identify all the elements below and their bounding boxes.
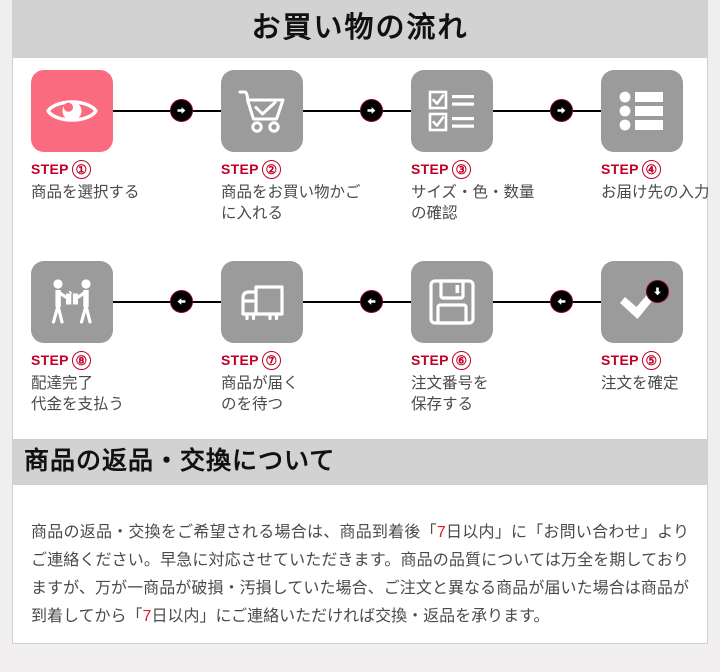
arrow-left-badge-1 bbox=[170, 290, 193, 313]
step-label-line-3: STEP③ bbox=[411, 158, 573, 180]
step-label-line-1: STEP① bbox=[31, 158, 193, 180]
step-item-3[interactable]: STEP③ サイズ・色・数量 の確認 bbox=[403, 58, 573, 249]
step-word-6: STEP bbox=[411, 352, 449, 368]
step-tile-1 bbox=[31, 70, 113, 152]
step-tile-4 bbox=[601, 70, 683, 152]
step-number-6: ⑥ bbox=[452, 351, 471, 370]
step-tile-7 bbox=[221, 261, 303, 343]
step-word-3: STEP bbox=[411, 161, 449, 177]
shopping-flow-page: お買い物の流れ bbox=[0, 0, 720, 672]
step-tile-6 bbox=[411, 261, 493, 343]
step-word-2: STEP bbox=[221, 161, 259, 177]
step-desc-4: お届け先の入力 bbox=[601, 182, 720, 203]
arrow-down-badge bbox=[646, 280, 669, 303]
step-tile-3 bbox=[411, 70, 493, 152]
step-desc-6: 注文番号を 保存する bbox=[411, 373, 573, 415]
step-number-2: ② bbox=[262, 160, 281, 179]
floppy-save-icon bbox=[426, 276, 478, 328]
step-caption-3: STEP③ サイズ・色・数量 の確認 bbox=[411, 158, 573, 224]
step-desc-1: 商品を選択する bbox=[31, 182, 193, 203]
flow-section-title: お買い物の流れ bbox=[12, 0, 708, 57]
delivery-truck-icon bbox=[234, 274, 290, 330]
arrow-left-icon bbox=[365, 295, 378, 308]
step-caption-2: STEP② 商品をお買い物かご に入れる bbox=[221, 158, 383, 224]
returns-section-title: 商品の返品・交換について bbox=[12, 440, 708, 484]
step-label-line-6: STEP⑥ bbox=[411, 349, 573, 371]
step-caption-8: STEP⑧ 配達完了 代金を支払う bbox=[31, 349, 193, 415]
step-label-line-7: STEP⑦ bbox=[221, 349, 383, 371]
step-item-4[interactable]: STEP④ お届け先の入力 bbox=[593, 58, 720, 249]
step-number-1: ① bbox=[72, 160, 91, 179]
step-desc-8: 配達完了 代金を支払う bbox=[31, 373, 193, 415]
eye-icon bbox=[44, 83, 100, 139]
checklist-icon bbox=[426, 85, 478, 137]
step-number-7: ⑦ bbox=[262, 351, 281, 370]
step-number-8: ⑧ bbox=[72, 351, 91, 370]
step-label-line-2: STEP② bbox=[221, 158, 383, 180]
flow-row-bottom: STEP⑧ 配達完了 代金を支払う bbox=[13, 249, 707, 440]
step-number-5: ⑤ bbox=[642, 351, 661, 370]
arrow-right-icon bbox=[175, 104, 188, 117]
step-caption-4: STEP④ お届け先の入力 bbox=[601, 158, 720, 203]
returns-days-highlight-1: 7 bbox=[437, 524, 446, 541]
step-number-4: ④ bbox=[642, 160, 661, 179]
step-tile-8 bbox=[31, 261, 113, 343]
step-caption-1: STEP① 商品を選択する bbox=[31, 158, 193, 203]
arrow-left-badge-3 bbox=[550, 290, 573, 313]
step-item-6[interactable]: STEP⑥ 注文番号を 保存する bbox=[403, 249, 573, 440]
arrow-right-badge-2 bbox=[360, 99, 383, 122]
step-tile-5 bbox=[601, 261, 683, 343]
step-word-7: STEP bbox=[221, 352, 259, 368]
step-desc-5: 注文を確定 bbox=[601, 373, 720, 394]
step-desc-7: 商品が届く のを待つ bbox=[221, 373, 383, 415]
returns-text-part-3: 日以内」にご連絡いただければ交換・返品を承ります。 bbox=[151, 608, 549, 625]
handover-package-icon bbox=[45, 275, 99, 329]
step-word-8: STEP bbox=[31, 352, 69, 368]
returns-panel: 商品の返品・交換をご希望される場合は、商品到着後「7日以内」に「お問い合わせ」よ… bbox=[12, 484, 708, 644]
step-desc-3: サイズ・色・数量 の確認 bbox=[411, 182, 573, 224]
arrow-right-icon bbox=[555, 104, 568, 117]
step-label-line-5: STEP⑤ bbox=[601, 349, 720, 371]
step-word-5: STEP bbox=[601, 352, 639, 368]
arrow-left-icon bbox=[555, 295, 568, 308]
arrow-down-icon bbox=[651, 285, 664, 298]
step-label-line-8: STEP⑧ bbox=[31, 349, 193, 371]
step-desc-2: 商品をお買い物かご に入れる bbox=[221, 182, 383, 224]
arrow-right-badge-3 bbox=[550, 99, 573, 122]
step-word-4: STEP bbox=[601, 161, 639, 177]
shopping-cart-icon bbox=[234, 83, 290, 139]
step-tile-2 bbox=[221, 70, 303, 152]
arrow-left-icon bbox=[175, 295, 188, 308]
step-item-5[interactable]: STEP⑤ 注文を確定 bbox=[593, 249, 720, 440]
returns-policy-text: 商品の返品・交換をご希望される場合は、商品到着後「7日以内」に「お問い合わせ」よ… bbox=[31, 519, 689, 631]
step-caption-7: STEP⑦ 商品が届く のを待つ bbox=[221, 349, 383, 415]
arrow-right-badge-1 bbox=[170, 99, 193, 122]
flow-panel: STEP① 商品を選択する bbox=[12, 57, 708, 440]
arrow-left-badge-2 bbox=[360, 290, 383, 313]
step-item-2[interactable]: STEP② 商品をお買い物かご に入れる bbox=[213, 58, 383, 249]
step-word-1: STEP bbox=[31, 161, 69, 177]
step-item-8[interactable]: STEP⑧ 配達完了 代金を支払う bbox=[23, 249, 193, 440]
step-item-7[interactable]: STEP⑦ 商品が届く のを待つ bbox=[213, 249, 383, 440]
flow-row-top: STEP① 商品を選択する bbox=[13, 58, 707, 249]
arrow-right-icon bbox=[365, 104, 378, 117]
step-number-3: ③ bbox=[452, 160, 471, 179]
step-caption-6: STEP⑥ 注文番号を 保存する bbox=[411, 349, 573, 415]
returns-text-part-1: 商品の返品・交換をご希望される場合は、商品到着後「 bbox=[31, 524, 437, 541]
step-item-1[interactable]: STEP① 商品を選択する bbox=[23, 58, 193, 249]
step-caption-5: STEP⑤ 注文を確定 bbox=[601, 349, 720, 394]
bullet-list-icon bbox=[616, 85, 668, 137]
step-label-line-4: STEP④ bbox=[601, 158, 720, 180]
